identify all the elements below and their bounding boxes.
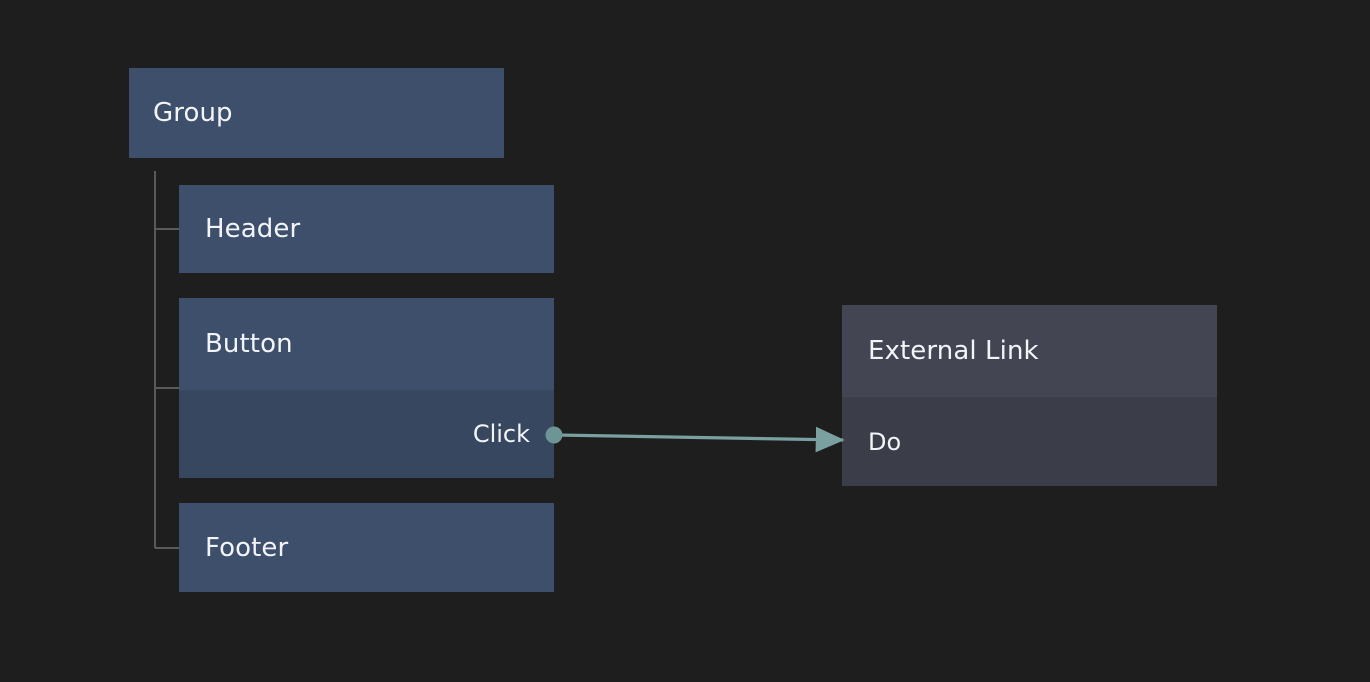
node-header-title: Header [205, 216, 300, 242]
node-group-header[interactable]: Group [129, 68, 504, 158]
node-button-title: Button [205, 331, 293, 357]
node-group[interactable]: Group [129, 68, 504, 158]
node-footer-title: Footer [205, 535, 288, 561]
node-header[interactable]: Header [179, 185, 554, 273]
node-external-link-body[interactable]: Do [842, 397, 1217, 486]
node-button[interactable]: Button Click [179, 298, 554, 478]
node-external-link[interactable]: External Link Do [842, 305, 1217, 486]
node-external-link-title: External Link [868, 338, 1039, 364]
node-external-link-header[interactable]: External Link [842, 305, 1217, 397]
node-footer[interactable]: Footer [179, 503, 554, 592]
input-port-do-label[interactable]: Do [868, 430, 901, 454]
output-port-click-label[interactable]: Click [473, 422, 530, 446]
graph-canvas[interactable]: Group Header Button Click Footer Externa… [0, 0, 1370, 682]
node-group-title: Group [153, 100, 233, 126]
node-footer-header[interactable]: Footer [179, 503, 554, 592]
node-header-header[interactable]: Header [179, 185, 554, 273]
edge-click-to-do[interactable] [556, 435, 843, 440]
node-button-header[interactable]: Button [179, 298, 554, 390]
node-button-body[interactable]: Click [179, 390, 554, 478]
